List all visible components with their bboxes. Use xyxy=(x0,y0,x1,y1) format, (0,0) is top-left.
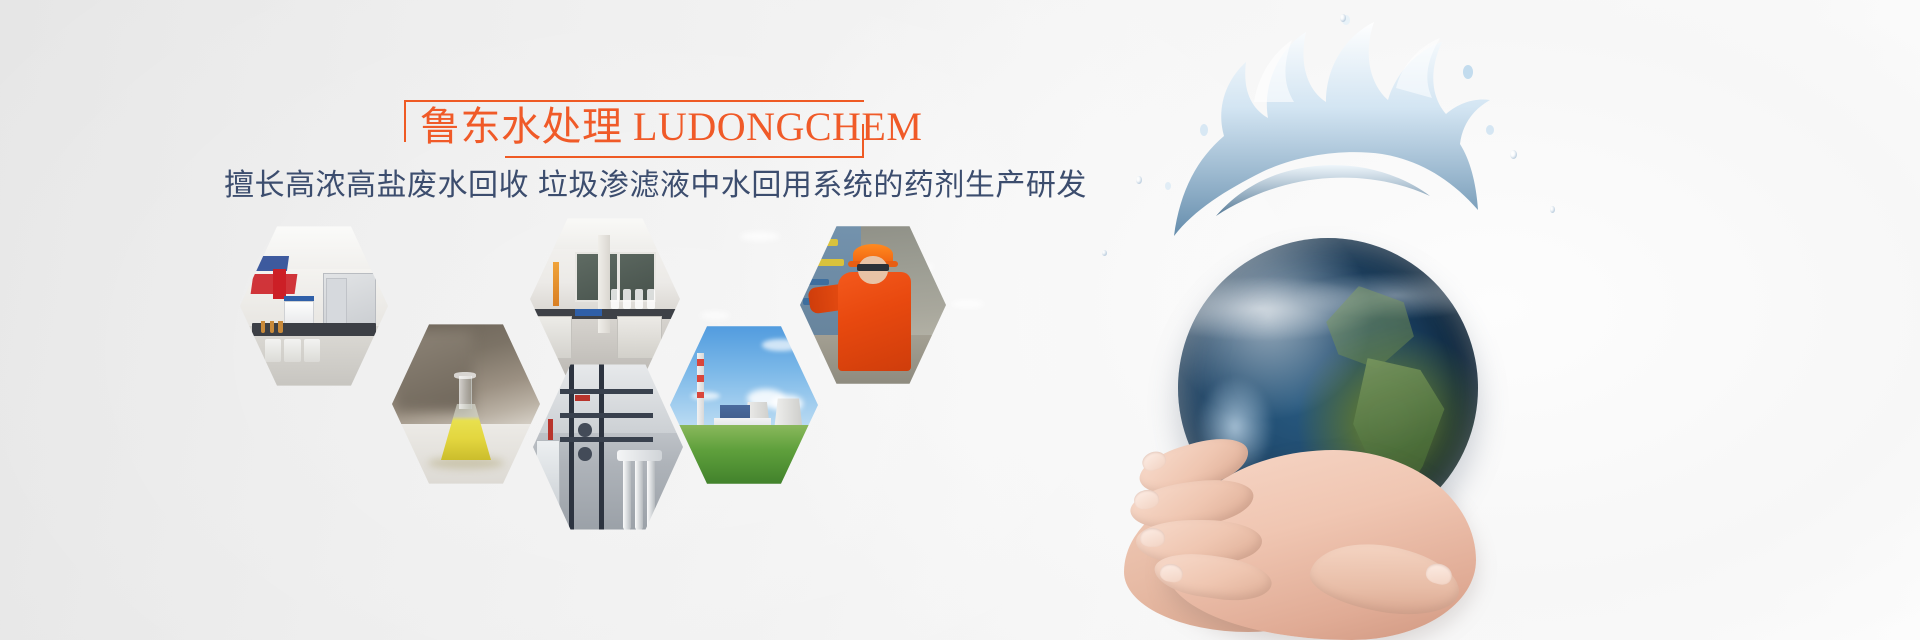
frame-left-tick xyxy=(404,100,406,142)
water-droplet xyxy=(1102,250,1107,256)
frame-top-line xyxy=(404,100,864,102)
hexagon-gallery xyxy=(240,215,960,535)
frame-bottom-line xyxy=(505,156,864,158)
gallery-hex-laboratory-room[interactable] xyxy=(240,223,388,389)
gallery-hex-worker-orange-uniform[interactable] xyxy=(800,223,946,387)
hands-holding-globe xyxy=(1114,396,1534,640)
gallery-hex-industrial-piping-system[interactable] xyxy=(533,361,683,533)
gallery-hex-yellow-reagent-flask[interactable] xyxy=(392,321,540,487)
water-droplet xyxy=(1136,176,1142,184)
gallery-hex-power-plant-cooling-towers[interactable] xyxy=(670,323,818,487)
water-droplet xyxy=(1510,150,1517,159)
gallery-hex-lab-equipment-bench[interactable] xyxy=(530,215,680,383)
page-subtitle: 擅长高浓高盐废水回收 垃圾渗滤液中水回用系统的药剂生产研发 xyxy=(224,160,1087,204)
water-globe-scene xyxy=(1040,0,1600,640)
water-droplet xyxy=(1340,14,1346,22)
hero-banner: 鲁东水处理 LUDONGCHEM 擅长高浓高盐废水回收 垃圾渗滤液中水回用系统的… xyxy=(0,0,1920,640)
water-droplet xyxy=(1550,206,1555,213)
title-frame: 鲁东水处理 LUDONGCHEM xyxy=(404,100,864,158)
frame-right-tick xyxy=(862,124,864,158)
headline-block: 鲁东水处理 LUDONGCHEM xyxy=(404,100,864,158)
page-title: 鲁东水处理 LUDONGCHEM xyxy=(420,106,850,148)
fingernail xyxy=(1140,528,1165,547)
